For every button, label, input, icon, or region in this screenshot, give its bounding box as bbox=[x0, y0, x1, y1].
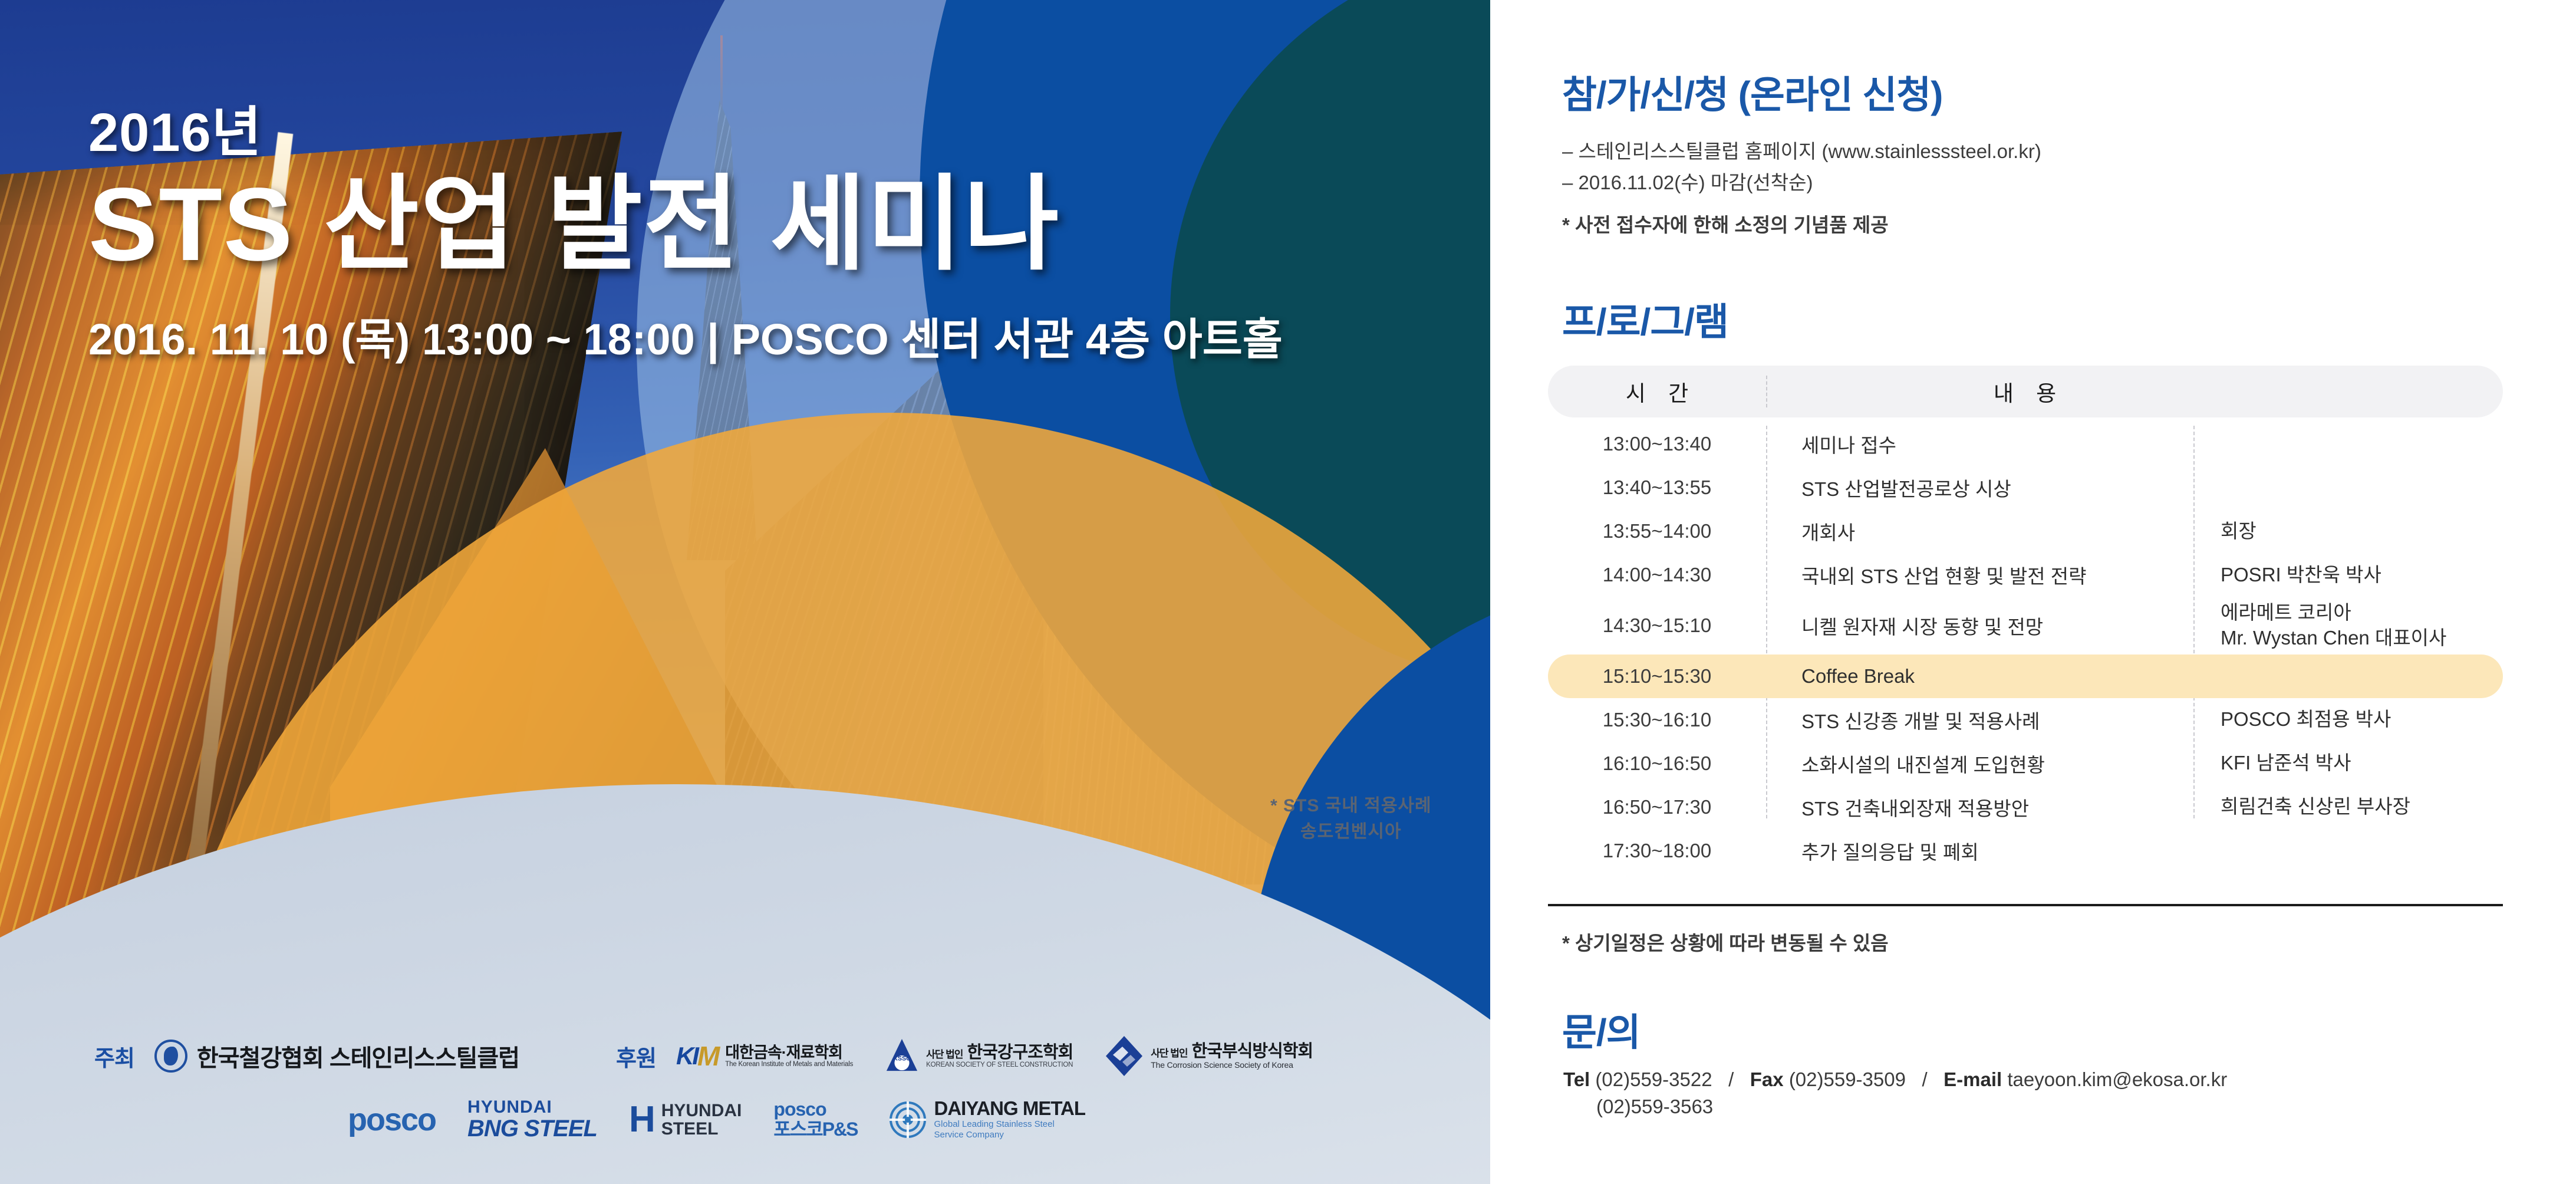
program-table: 시 간 내 용 13:00~13:40세미나 접수13:40~13:55STS … bbox=[1548, 366, 2503, 873]
host-label: 주최 bbox=[94, 1040, 134, 1073]
logo-posco-wordmark: posco bbox=[348, 1101, 436, 1138]
contact-tel-label: Tel bbox=[1563, 1068, 1590, 1090]
apply-gift-note: * 사전 접수자에 한해 소정의 기념품 제공 bbox=[1562, 209, 1889, 238]
cell-content: 국내외 STS 산업 현황 및 발전 전략 bbox=[1766, 561, 2193, 589]
hyundai-h-icon: H bbox=[629, 1103, 655, 1136]
table-row: 16:50~17:30STS 건축내외장재 적용방안희림건축 신상린 부사장 bbox=[1548, 785, 2503, 829]
logo-kisa-stainless-steel-club: 한국철강협회 스테인리스스틸클럽 bbox=[154, 1039, 519, 1073]
sponsor-row-companies: posco HYUNDAI BNG STEEL H HYUNDAI STEEL bbox=[348, 1099, 1085, 1141]
hero-text-block: 2016년 STS 산업 발전 세미나 2016. 11. 10 (목) 13:… bbox=[88, 88, 1356, 367]
logo-hyundai-steel-top: HYUNDAI bbox=[661, 1101, 742, 1120]
sponsor-row-primary: 주최 한국철강협회 스테인리스스틸클럽 후원 KI M 대한금속·재료학회 Th… bbox=[94, 1035, 1313, 1077]
logo-bng-bottom: BNG STEEL bbox=[467, 1116, 597, 1141]
hero-panel: 2016년 STS 산업 발전 세미나 2016. 11. 10 (목) 13:… bbox=[0, 0, 1491, 1184]
contact-separator-1: / bbox=[1728, 1068, 1734, 1090]
host-name: 한국철강협회 스테인리스스틸클럽 bbox=[197, 1039, 519, 1073]
logo-cssk-name-en: The Corrosion Science Society of Korea bbox=[1151, 1060, 1313, 1070]
table-row: 15:30~16:10STS 신강종 개발 및 적용사례POSCO 최점용 박사 bbox=[1548, 698, 2503, 742]
cell-time: 16:50~17:30 bbox=[1548, 796, 1766, 818]
table-row: 14:30~15:10니켈 원자재 시장 동향 및 전망에라메트 코리아Mr. … bbox=[1548, 597, 2503, 655]
program-table-body: 13:00~13:40세미나 접수13:40~13:55STS 산업발전공로상 … bbox=[1548, 422, 2503, 873]
contact-tel-secondary: (02)559-3563 bbox=[1563, 1096, 2227, 1118]
logo-kim: KI M 대한금속·재료학회 The Korean Institute of M… bbox=[676, 1040, 853, 1072]
logo-cssk-name-ko: 한국부식방식학회 bbox=[1192, 1042, 1313, 1061]
cssk-diamond-icon bbox=[1105, 1035, 1144, 1077]
cell-time: 13:00~13:40 bbox=[1548, 433, 1766, 455]
kim-mark-m-icon: M bbox=[697, 1040, 718, 1072]
table-row: 16:10~16:50소화시설의 내진설계 도입현황KFI 남준석 박사 bbox=[1548, 742, 2503, 785]
cell-content: Coffee Break bbox=[1766, 665, 2193, 688]
table-row: 14:00~14:30국내외 STS 산업 현황 및 발전 전략POSRI 박찬… bbox=[1548, 553, 2503, 597]
logo-kim-name-en: The Korean Institute of Metals and Mater… bbox=[725, 1061, 853, 1068]
contact-details: Tel (02)559-3522 / Fax (02)559-3509 / E-… bbox=[1563, 1068, 2227, 1118]
table-row: 15:10~15:30Coffee Break bbox=[1548, 655, 2503, 698]
logo-kssc-prefix: 사단 법인 bbox=[926, 1049, 963, 1060]
table-row: 13:00~13:40세미나 접수 bbox=[1548, 422, 2503, 466]
logo-pps-top: posco bbox=[773, 1100, 857, 1120]
apply-bullet-website: – 스테인리스스틸클럽 홈페이지 (www.stainlesssteel.or.… bbox=[1562, 136, 2041, 167]
logo-posco-pns: posco 포스코P&S bbox=[773, 1100, 857, 1140]
page-title: STS 산업 발전 세미나 bbox=[88, 170, 1356, 279]
kssc-triangle-icon: KSSC bbox=[885, 1038, 919, 1074]
event-datetime-venue: 2016. 11. 10 (목) 13:00 ~ 18:00 | POSCO 센… bbox=[88, 304, 1356, 367]
cell-time: 15:10~15:30 bbox=[1548, 665, 1766, 688]
cell-speaker: POSCO 최점용 박사 bbox=[2193, 707, 2503, 732]
logo-cssk-prefix: 사단 법인 bbox=[1151, 1048, 1187, 1059]
kim-mark-icon: KI bbox=[676, 1042, 697, 1070]
logo-pps-bottom: 포스코P&S bbox=[773, 1119, 857, 1140]
cell-content: 개회사 bbox=[1766, 517, 2193, 545]
section-title-contact: 문/의 bbox=[1562, 1002, 1641, 1057]
contact-tel-value: (02)559-3522 bbox=[1595, 1068, 1712, 1090]
svg-text:KSSC: KSSC bbox=[893, 1055, 911, 1063]
apply-bullet-deadline: – 2016.11.02(수) 마감(선착순) bbox=[1562, 167, 2041, 198]
cell-content: 소화시설의 내진설계 도입현황 bbox=[1766, 749, 2193, 778]
cell-content: 추가 질의응답 및 폐회 bbox=[1766, 837, 2193, 865]
daiyang-target-icon bbox=[890, 1101, 926, 1138]
cell-time: 14:00~14:30 bbox=[1548, 564, 1766, 586]
photo-credit-line-1: * STS 국내 적용사례 bbox=[1270, 793, 1432, 819]
event-year: 2016년 bbox=[88, 88, 1356, 167]
logo-kssc-name-en: KOREAN SOCIETY OF STEEL CONSTRUCTION bbox=[926, 1061, 1073, 1068]
program-bottom-rule bbox=[1548, 904, 2503, 906]
logo-posco: posco bbox=[348, 1101, 436, 1138]
cell-speaker: KFI 남준석 박사 bbox=[2193, 751, 2503, 776]
logo-bng-top: HYUNDAI bbox=[467, 1099, 597, 1116]
cell-speaker: 에라메트 코리아Mr. Wystan Chen 대표이사 bbox=[2193, 600, 2503, 651]
logo-daiyang-tagline-1: Global Leading Stainless Steel bbox=[934, 1119, 1086, 1130]
apply-bullets: – 스테인리스스틸클럽 홈페이지 (www.stainlesssteel.or.… bbox=[1562, 136, 2041, 199]
photo-credit: * STS 국내 적용사례 송도컨벤시아 bbox=[1270, 793, 1432, 844]
program-footnote: * 상기일정은 상황에 따라 변동될 수 있음 bbox=[1562, 928, 1889, 956]
logo-daiyang-tagline-2: Service Company bbox=[934, 1130, 1086, 1141]
section-title-apply: 참/가/신/청 (온라인 신청) bbox=[1562, 65, 1942, 119]
logo-daiyang-name: DAIYANG METAL bbox=[934, 1099, 1086, 1119]
table-row: 17:30~18:00추가 질의응답 및 폐회 bbox=[1548, 829, 2503, 873]
column-header-time: 시 간 bbox=[1548, 376, 1766, 407]
table-row: 13:40~13:55STS 산업발전공로상 시상 bbox=[1548, 466, 2503, 509]
logo-hyundai-steel: H HYUNDAI STEEL bbox=[629, 1101, 742, 1139]
cell-time: 13:55~14:00 bbox=[1548, 520, 1766, 542]
cell-content: STS 신강종 개발 및 적용사례 bbox=[1766, 706, 2193, 734]
cell-speaker: POSRI 박찬욱 박사 bbox=[2193, 563, 2503, 588]
cell-time: 13:40~13:55 bbox=[1548, 476, 1766, 499]
cell-speaker: 희림건축 신상린 부사장 bbox=[2193, 794, 2503, 820]
logo-kssc-name-ko: 한국강구조학회 bbox=[967, 1043, 1073, 1062]
contact-email-label: E-mail bbox=[1943, 1068, 2002, 1090]
logo-kssc: KSSC 사단 법인 한국강구조학회 KOREAN SOCIETY OF STE… bbox=[885, 1038, 1073, 1074]
table-row: 13:55~14:00개회사회장 bbox=[1548, 509, 2503, 553]
cell-speaker: 회장 bbox=[2193, 519, 2503, 544]
logo-hyundai-bng-steel: HYUNDAI BNG STEEL bbox=[467, 1099, 597, 1141]
cell-content: STS 산업발전공로상 시상 bbox=[1766, 473, 2193, 502]
program-table-header: 시 간 내 용 bbox=[1548, 366, 2503, 417]
logo-kim-name-ko: 대한금속·재료학회 bbox=[725, 1044, 853, 1061]
cell-content: 니켈 원자재 시장 동향 및 전망 bbox=[1766, 611, 2193, 640]
cell-content: 세미나 접수 bbox=[1766, 430, 2193, 458]
logo-hyundai-steel-bottom: STEEL bbox=[661, 1120, 742, 1139]
contact-fax-value: (02)559-3509 bbox=[1789, 1068, 1906, 1090]
logo-cssk: 사단 법인 한국부식방식학회 The Corrosion Science Soc… bbox=[1105, 1035, 1313, 1077]
cell-time: 17:30~18:00 bbox=[1548, 840, 1766, 862]
cell-time: 16:10~16:50 bbox=[1548, 752, 1766, 775]
column-header-content: 내 용 bbox=[1767, 376, 2503, 407]
poster-root: 2016년 STS 산업 발전 세미나 2016. 11. 10 (목) 13:… bbox=[0, 0, 2576, 1184]
photo-credit-line-2: 송도컨벤시아 bbox=[1270, 819, 1432, 845]
contact-email-value[interactable]: taeyoon.kim@ekosa.or.kr bbox=[2007, 1068, 2227, 1090]
sponsor-strip: 주최 한국철강협회 스테인리스스틸클럽 후원 KI M 대한금속·재료학회 Th… bbox=[0, 1023, 1491, 1184]
contact-separator-2: / bbox=[1922, 1068, 1927, 1090]
cell-content: STS 건축내외장재 적용방안 bbox=[1766, 793, 2193, 821]
content-panel: 참/가/신/청 (온라인 신청) – 스테인리스스틸클럽 홈페이지 (www.s… bbox=[1491, 0, 2576, 1184]
section-title-program: 프/로/그/램 bbox=[1562, 292, 1728, 346]
kisa-seal-icon bbox=[154, 1040, 187, 1073]
cell-time: 14:30~15:10 bbox=[1548, 614, 1766, 637]
contact-fax-label: Fax bbox=[1750, 1068, 1784, 1090]
logo-daiyang-metal: DAIYANG METAL Global Leading Stainless S… bbox=[890, 1099, 1086, 1141]
support-label: 후원 bbox=[616, 1040, 656, 1073]
cell-time: 15:30~16:10 bbox=[1548, 709, 1766, 731]
